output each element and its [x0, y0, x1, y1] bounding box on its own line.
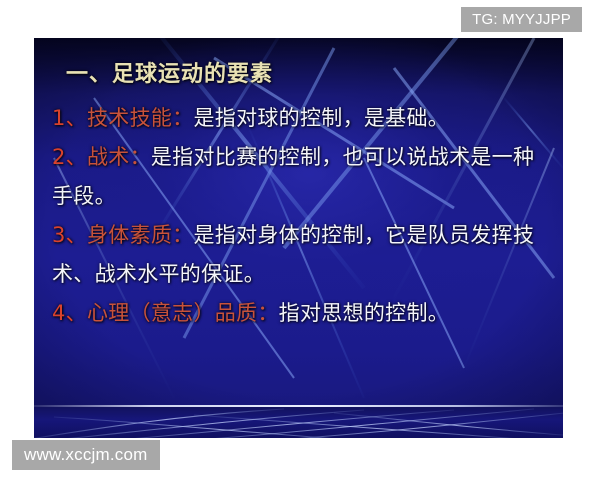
bullet-3-label: 身体素质：: [87, 223, 194, 247]
presentation-slide: 一、足球运动的要素 1、技术技能：是指对球的控制，是基础。 2、战术：是指对比赛…: [34, 38, 563, 438]
bullet-4-body: 指对思想的控制。: [279, 301, 449, 325]
watermark-top-right: TG: MYYJJPP: [461, 7, 582, 32]
bullet-1-number: 1、: [52, 106, 87, 130]
slide-title: 一、足球运动的要素: [66, 60, 549, 90]
bullet-2-number: 2、: [52, 145, 87, 169]
slide-text-block: 一、足球运动的要素 1、技术技能：是指对球的控制，是基础。 2、战术：是指对比赛…: [34, 60, 563, 333]
bullet-4-number: 4、: [52, 301, 87, 325]
bullet-1-body: 是指对球的控制，是基础。: [193, 106, 449, 130]
slide-bottom-band: [34, 407, 563, 438]
bullet-item-4: 4、心理（意志）品质：指对思想的控制。: [52, 294, 549, 333]
watermark-bottom-left: www.xccjm.com: [12, 440, 160, 470]
bullet-item-1: 1、技术技能：是指对球的控制，是基础。: [52, 99, 549, 138]
bullet-item-2: 2、战术：是指对比赛的控制，也可以说战术是一种手段。: [52, 138, 549, 216]
bullet-3-number: 3、: [52, 223, 87, 247]
bullet-2-label: 战术：: [87, 145, 151, 169]
bullet-item-3: 3、身体素质：是指对身体的控制，它是队员发挥技术、战术水平的保证。: [52, 216, 549, 294]
slide-divider-line: [34, 405, 563, 407]
bullet-1-label: 技术技能：: [87, 106, 194, 130]
bullet-4-label: 心理（意志）品质：: [87, 301, 279, 325]
bottom-swoosh-lines: [34, 407, 563, 438]
